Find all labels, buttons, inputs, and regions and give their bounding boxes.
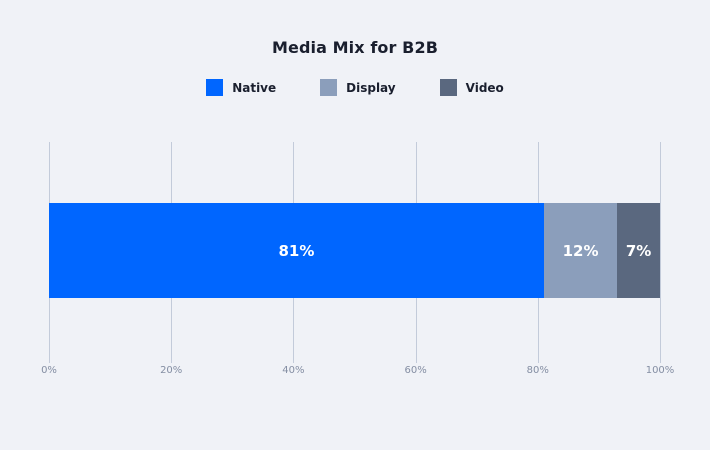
- chart-title: Media Mix for B2B: [0, 38, 710, 57]
- bar-segment-display[interactable]: 12%: [544, 203, 617, 298]
- legend-item-label: Display: [346, 81, 395, 95]
- x-axis-tick-label: 80%: [527, 365, 549, 376]
- legend-item-display[interactable]: Display: [320, 79, 395, 96]
- legend-item-label: Video: [466, 81, 504, 95]
- x-axis-tick-label: 40%: [282, 365, 304, 376]
- tick-mark: [293, 357, 294, 363]
- bar-segment-value-label: 81%: [279, 242, 315, 260]
- legend-item-native[interactable]: Native: [206, 79, 276, 96]
- legend-item-label: Native: [232, 81, 276, 95]
- x-axis-tick-label: 60%: [404, 365, 426, 376]
- bar-segment-video[interactable]: 7%: [617, 203, 660, 298]
- tick-mark: [538, 357, 539, 363]
- x-axis-tick-label: 20%: [160, 365, 182, 376]
- tick-mark: [171, 357, 172, 363]
- tick-mark: [49, 357, 50, 363]
- legend-swatch-icon: [320, 79, 337, 96]
- gridline: [660, 142, 661, 357]
- chart-container: Media Mix for B2B NativeDisplayVideo 81%…: [0, 0, 710, 450]
- stacked-bar: 81%12%7%: [49, 203, 660, 298]
- bar-segment-value-label: 12%: [563, 242, 599, 260]
- plot-area: 81%12%7% 0%20%40%60%80%100%: [49, 142, 660, 357]
- legend-item-video[interactable]: Video: [440, 79, 504, 96]
- tick-mark: [660, 357, 661, 363]
- bar-segment-value-label: 7%: [626, 242, 651, 260]
- chart-legend: NativeDisplayVideo: [0, 79, 710, 96]
- legend-swatch-icon: [206, 79, 223, 96]
- legend-swatch-icon: [440, 79, 457, 96]
- bar-segment-native[interactable]: 81%: [49, 203, 544, 298]
- x-axis-tick-label: 0%: [41, 365, 57, 376]
- x-axis-tick-label: 100%: [646, 365, 675, 376]
- tick-mark: [416, 357, 417, 363]
